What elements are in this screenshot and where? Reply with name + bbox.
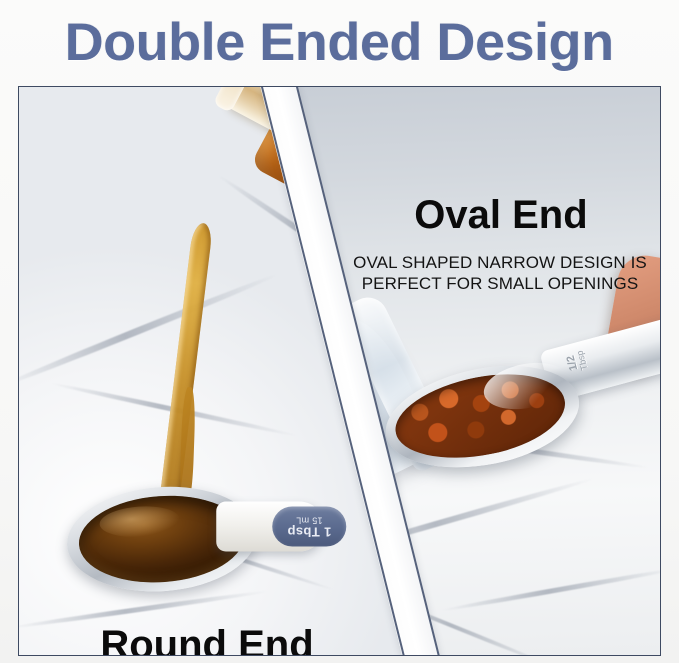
image-panel: 15 1 Tbsp 15 mL [18, 86, 661, 656]
oval-spoon-bowl [377, 351, 588, 483]
round-spoon-label-main: 1 Tbsp [287, 524, 331, 538]
product-feature-image: Double Ended Design [0, 0, 679, 663]
oval-end-subtitle: OVAL SHAPED NARROW DESIGN IS PERFECT FOR… [335, 253, 661, 294]
headline-bar: Double Ended Design [0, 0, 679, 84]
oval-end-subtitle-line2: PERFECT FOR SMALL OPENINGS [335, 274, 661, 295]
oval-end-title: Oval End [341, 195, 661, 235]
round-end-title: Round End [37, 625, 377, 656]
marble-vein [18, 271, 279, 390]
round-spoon-handle-tip: 1 Tbsp 15 mL [272, 507, 346, 547]
round-spoon-label: 1 Tbsp 15 mL [272, 507, 346, 547]
round-spoon-volume-mark: 15 [372, 530, 381, 539]
page-title: Double Ended Design [65, 16, 614, 69]
round-measuring-spoon: 15 1 Tbsp 15 mL [63, 476, 320, 603]
marble-vein [441, 566, 660, 613]
oval-end-subtitle-line1: OVAL SHAPED NARROW DESIGN IS [335, 253, 661, 274]
oval-spoon-engraving: 1/2 Tbsp [564, 349, 590, 374]
round-spoon-handle: 15 1 Tbsp 15 mL [216, 502, 324, 552]
round-spoon-label-sub: 15 mL [296, 515, 323, 524]
